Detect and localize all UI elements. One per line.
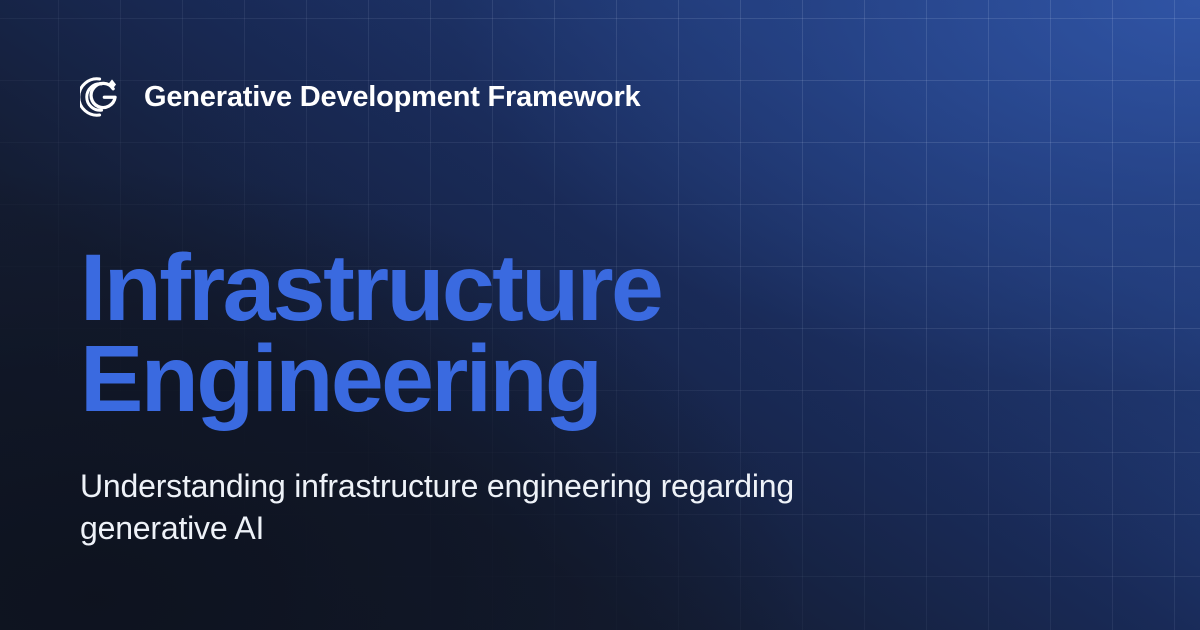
page-title: Infrastructure Engineering xyxy=(80,243,780,425)
card-content: Generative Development Framework Infrast… xyxy=(0,0,1200,630)
og-card: Generative Development Framework Infrast… xyxy=(0,0,1200,630)
brand-name: Generative Development Framework xyxy=(144,81,640,114)
brand-lockup: Generative Development Framework xyxy=(80,74,640,120)
page-subtitle: Understanding infrastructure engineering… xyxy=(80,466,810,550)
generative-g-monogram-icon xyxy=(80,74,126,120)
